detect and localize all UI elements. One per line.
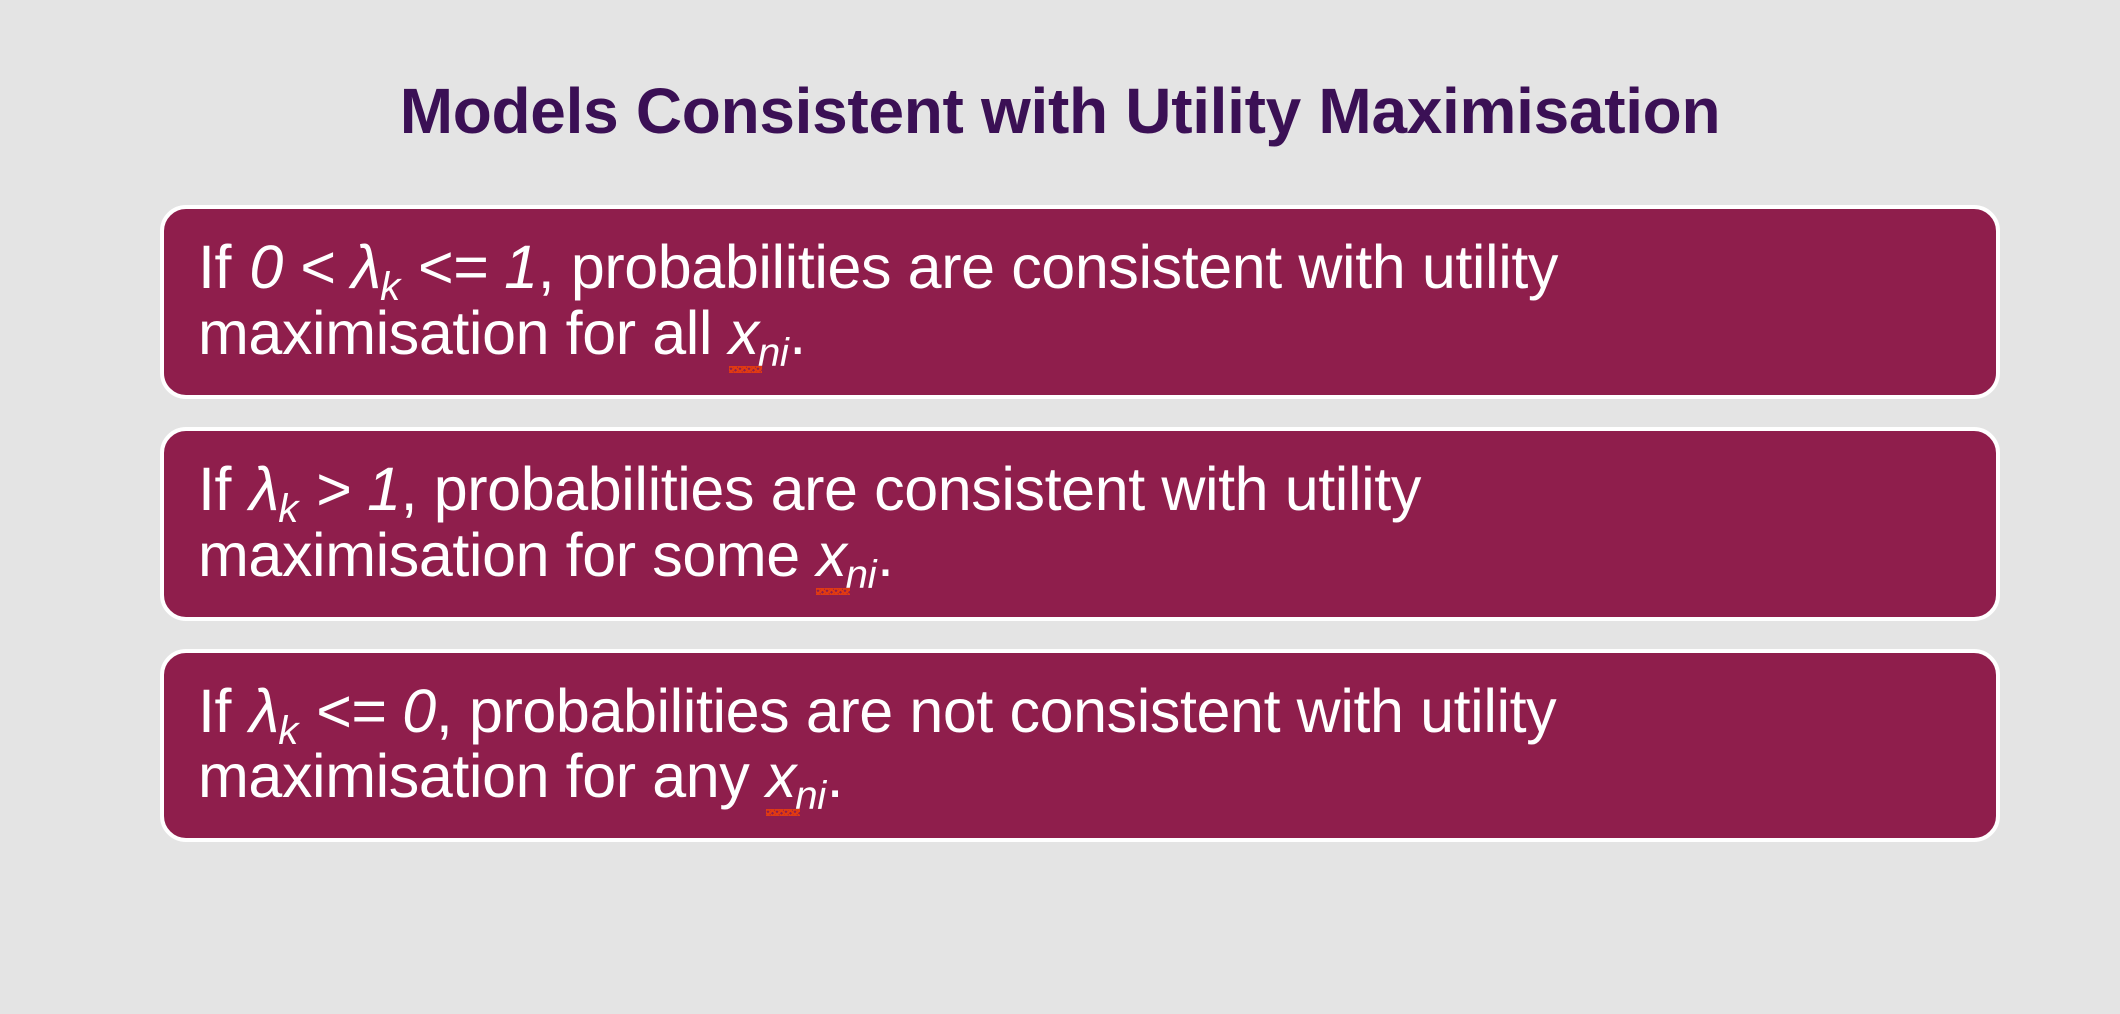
statement-3-period: . <box>827 742 844 810</box>
statement-2-x-subscript: ni <box>846 552 877 597</box>
statement-box-1[interactable]: If0 < λk <= 1, probabilities are consist… <box>160 205 2000 399</box>
statement-1-x-subscript: ni <box>758 330 789 375</box>
statement-2-line-1: Ifλk > 1, probabilities are consistent w… <box>198 457 1962 523</box>
statement-2-x-variable: xni <box>816 523 877 589</box>
statement-1-line-2-lead: maximisation for all <box>198 299 729 367</box>
statement-2-period: . <box>877 521 894 589</box>
statement-1-lambda-variable: λk <box>351 235 400 301</box>
statement-1-lambda-subscript: k <box>380 264 400 309</box>
statement-3-line-1-rest: probabilities are not consistent with ut… <box>452 677 1556 745</box>
statement-3-if-word: If <box>198 677 231 745</box>
statement-3-lambda-subscript: k <box>278 708 298 753</box>
statement-1-x-symbol-spellcheck: x <box>729 301 759 367</box>
statement-1-lambda-symbol: λ <box>351 233 381 301</box>
statement-1-x-variable: xni <box>729 301 790 367</box>
statement-2-comma: , <box>401 455 418 523</box>
statement-2-lambda-subscript: k <box>278 486 298 531</box>
statement-1-line-1-rest: probabilities are consistent with utilit… <box>554 233 1558 301</box>
page-title: Models Consistent with Utility Maximisat… <box>0 78 2120 145</box>
statement-3-line-1: Ifλk <= 0, probabilities are not consist… <box>198 679 1962 745</box>
statement-box-list: If0 < λk <= 1, probabilities are consist… <box>160 205 2000 842</box>
statement-1-math-suffix: <= 1 <box>401 233 538 301</box>
statement-3-x-subscript: ni <box>795 773 826 818</box>
statement-1-if-word: If <box>198 233 231 301</box>
statement-3-lambda-symbol: λ <box>249 677 279 745</box>
statement-1-line-2: maximisation for all xni. <box>198 301 1962 367</box>
statement-2-line-2: maximisation for some xni. <box>198 523 1962 589</box>
statement-2-lambda-symbol: λ <box>249 455 279 523</box>
slide-canvas: Models Consistent with Utility Maximisat… <box>0 0 2120 1014</box>
statement-2-math-suffix: > 1 <box>299 455 401 523</box>
statement-1-comma: , <box>538 233 555 301</box>
statement-3-math-suffix: <= 0 <box>299 677 436 745</box>
statement-2-if-word: If <box>198 455 231 523</box>
statement-box-3[interactable]: Ifλk <= 0, probabilities are not consist… <box>160 649 2000 843</box>
statement-1-period: . <box>789 299 806 367</box>
statement-box-2[interactable]: Ifλk > 1, probabilities are consistent w… <box>160 427 2000 621</box>
statement-3-line-2: maximisation for any xni. <box>198 744 1962 810</box>
statement-2-lambda-variable: λk <box>249 457 298 523</box>
statement-2-x-symbol-spellcheck: x <box>816 523 846 589</box>
statement-3-x-variable: xni <box>766 744 827 810</box>
statement-3-x-symbol-spellcheck: x <box>766 744 796 810</box>
statement-3-lambda-variable: λk <box>249 679 298 745</box>
statement-2-line-1-rest: probabilities are consistent with utilit… <box>417 455 1421 523</box>
statement-1-line-1: If0 < λk <= 1, probabilities are consist… <box>198 235 1962 301</box>
statement-1-math-prefix: 0 < <box>249 233 351 301</box>
statement-3-comma: , <box>436 677 453 745</box>
